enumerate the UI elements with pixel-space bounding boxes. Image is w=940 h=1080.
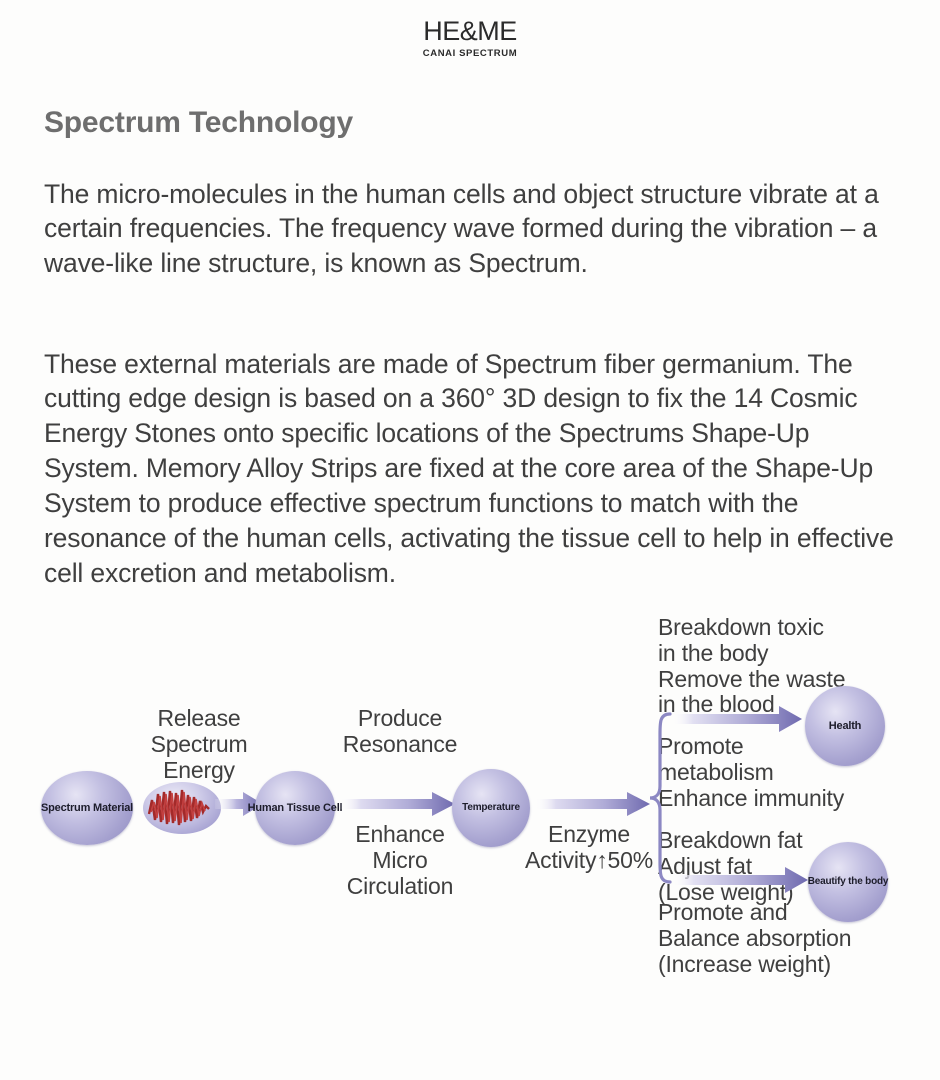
body-paragraph-2: These external materials are made of Spe…	[44, 347, 900, 592]
node-beautify-the-body-label: Beautify the body	[808, 876, 889, 887]
node-health: Health	[805, 686, 885, 766]
node-human-tissue-cell: Human Tissue Cell	[255, 771, 335, 845]
node-spectrum-material-label: Spectrum Material	[41, 802, 133, 814]
caption-enhance-micro-circulation: Enhance Micro Circulation	[330, 822, 470, 899]
caption-produce-resonance: Produce Resonance	[330, 706, 470, 758]
brand-logo: HE&ME CANAI SPECTRUM	[0, 18, 940, 59]
arrow-to-health	[672, 705, 802, 733]
node-beautify-the-body: Beautify the body	[808, 842, 888, 922]
page-title: Spectrum Technology	[44, 106, 353, 140]
outcome-brace	[648, 712, 674, 884]
node-human-tissue-cell-label: Human Tissue Cell	[248, 802, 343, 814]
node-temperature: Temperature	[452, 769, 530, 847]
node-health-label: Health	[829, 720, 861, 732]
node-temperature-label: Temperature	[462, 802, 520, 813]
arrow-to-beautify-the-body	[672, 866, 808, 894]
body-paragraph-1: The micro-molecules in the human cells a…	[44, 177, 900, 282]
arrow-tissue-cell-to-temperature	[340, 790, 455, 818]
caption-promote-balance-absorption: Promote and Balance absorption (Increase…	[658, 900, 918, 977]
caption-release-spectrum-energy: Release Spectrum Energy	[140, 706, 258, 783]
arrow-temperature-to-outcomes	[535, 790, 650, 818]
caption-enzyme-activity: Enzyme Activity↑50%	[515, 822, 663, 874]
brand-name: HE&ME	[0, 18, 940, 45]
node-spectrum-material: Spectrum Material	[41, 771, 133, 845]
spectrum-wave-ellipse	[143, 782, 221, 834]
brand-subtitle: CANAI SPECTRUM	[0, 48, 940, 59]
